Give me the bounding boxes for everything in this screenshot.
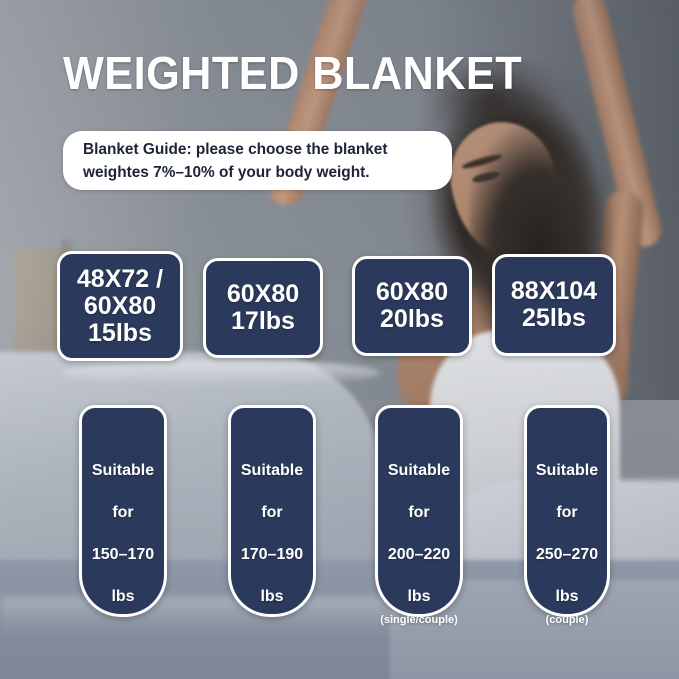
page-title: WEIGHTED BLANKET [63, 46, 522, 100]
suitable-card-3-line-1: Suitable [388, 450, 450, 492]
size-box-2: 60X80 17lbs [203, 258, 323, 358]
suitable-card-2-range: 170–190 [241, 534, 303, 576]
suitable-card-1-line-1: Suitable [92, 450, 154, 492]
guide-line-1: Blanket Guide: please choose the blanket [83, 138, 434, 161]
size-box-1-line-3: 15lbs [88, 320, 152, 347]
size-box-1-line-1: 48X72 / [77, 266, 163, 293]
suitable-card-1-unit: lbs [111, 576, 134, 618]
guide-line-2: weightes 7%–10% of your body weight. [83, 161, 434, 184]
suitable-card-2-line-2: for [261, 492, 282, 534]
blanket-guide-callout: Blanket Guide: please choose the blanket… [63, 131, 452, 190]
suitable-card-2-unit: lbs [260, 576, 283, 618]
size-box-3-line-1: 60X80 [376, 279, 448, 306]
size-box-4: 88X104 25lbs [492, 254, 616, 356]
suitable-card-3-note: (single/couple) [380, 614, 458, 626]
size-box-1: 48X72 / 60X80 15lbs [57, 251, 183, 361]
size-box-3: 60X80 20lbs [352, 256, 472, 356]
size-box-4-line-2: 25lbs [522, 305, 586, 332]
suitable-card-3-range: 200–220 [388, 534, 450, 576]
suitable-card-4-line-1: Suitable [536, 450, 598, 492]
size-box-4-line-1: 88X104 [511, 278, 597, 305]
size-box-2-line-2: 17lbs [231, 308, 295, 335]
suitable-card-3-line-2: for [408, 492, 429, 534]
suitable-card-4-unit: lbs [555, 576, 578, 618]
suitable-card-2: Suitable for 170–190 lbs [228, 405, 316, 617]
suitable-card-4-note: (couple) [546, 614, 589, 626]
suitable-card-4: Suitable for 250–270 lbs (couple) [524, 405, 610, 617]
size-box-2-line-1: 60X80 [227, 281, 299, 308]
size-box-1-line-2: 60X80 [84, 293, 156, 320]
product-infographic: WEIGHTED BLANKET Blanket Guide: please c… [0, 0, 679, 679]
suitable-card-4-line-2: for [556, 492, 577, 534]
suitable-card-3-unit: lbs [407, 576, 430, 618]
suitable-card-4-range: 250–270 [536, 534, 598, 576]
suitable-card-3: Suitable for 200–220 lbs (single/couple) [375, 405, 463, 617]
size-box-3-line-2: 20lbs [380, 306, 444, 333]
suitable-card-1-line-2: for [112, 492, 133, 534]
suitable-card-2-line-1: Suitable [241, 450, 303, 492]
suitable-card-1: Suitable for 150–170 lbs [79, 405, 167, 617]
suitable-card-1-range: 150–170 [92, 534, 154, 576]
